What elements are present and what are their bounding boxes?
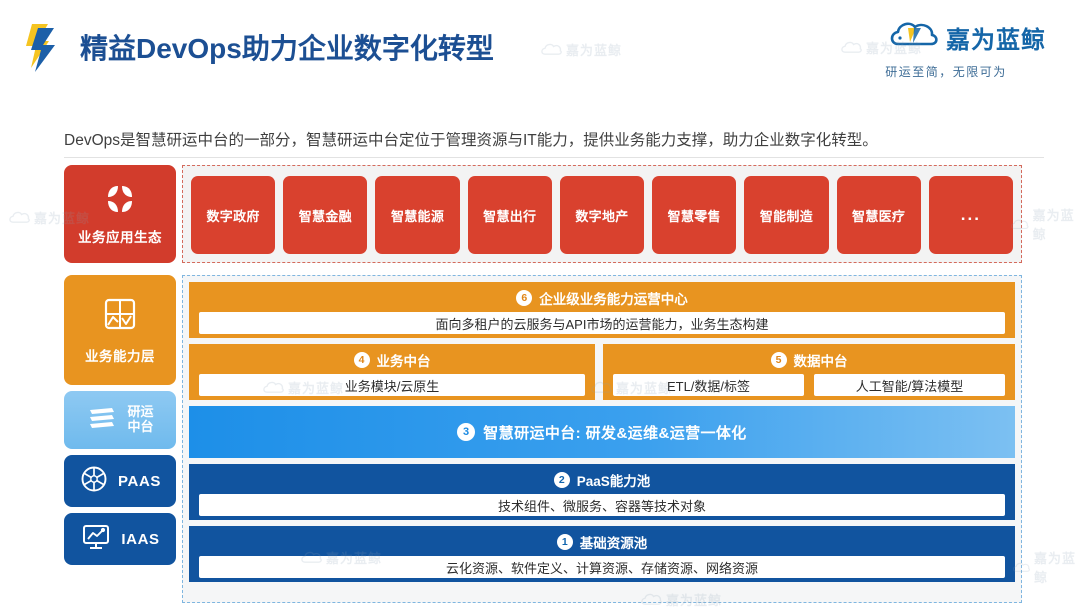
aperture-icon: [79, 464, 109, 499]
ecosystem-tile[interactable]: 数字政府: [191, 176, 275, 254]
step-badge: 3: [457, 423, 475, 441]
panel-title-text: 基础资源池: [580, 532, 648, 552]
page-title: 精益DevOps助力企业数字化转型: [80, 27, 494, 67]
brand-tagline: 研运至简，无限可为: [846, 63, 1046, 80]
lightning-bolt-logo: [18, 22, 64, 72]
ecosystem-tile[interactable]: 智慧能源: [375, 176, 459, 254]
sidebar-item-paas[interactable]: PAAS: [64, 455, 176, 507]
sidebar-item-label: 业务能力层: [85, 345, 155, 365]
ecosystem-tile-more[interactable]: ...: [929, 176, 1013, 254]
ecosystem-tile[interactable]: 智慧医疗: [837, 176, 921, 254]
ecosystem-tile-list: 数字政府 智慧金融 智慧能源 智慧出行 数字地产 智慧零售 智能制造 智慧医疗 …: [191, 176, 1013, 254]
sidebar-item-label: IAAS: [121, 531, 159, 548]
ecosystem-zone: 数字政府 智慧金融 智慧能源 智慧出行 数字地产 智慧零售 智能制造 智慧医疗 …: [182, 165, 1022, 263]
panel-field: 云化资源、软件定义、计算资源、存储资源、网络资源: [199, 556, 1005, 578]
step-badge: 5: [771, 352, 787, 368]
ecosystem-tile[interactable]: 智能制造: [744, 176, 828, 254]
sidebar-item-devops-platform[interactable]: 研运中台: [64, 391, 176, 449]
panel-field: ETL/数据/标签: [613, 374, 804, 396]
panel-field: 业务模块/云原生: [199, 374, 585, 396]
quadrant-chart-icon: [100, 296, 140, 339]
panel-title: 6 企业级业务能力运营中心: [199, 287, 1005, 309]
sidebar-item-business-capability[interactable]: 业务能力层: [64, 275, 176, 385]
panel-field: 面向多租户的云服务与API市场的运营能力，业务生态构建: [199, 312, 1005, 334]
ecosystem-tile[interactable]: 数字地产: [560, 176, 644, 254]
ecosystem-tile[interactable]: 智慧金融: [283, 176, 367, 254]
brand-logo: 嘉为蓝鲸 研运至简，无限可为: [846, 18, 1046, 80]
ecosystem-tile[interactable]: 智慧零售: [652, 176, 736, 254]
sidebar-item-iaas[interactable]: IAAS: [64, 513, 176, 565]
panel-title-text: 数据中台: [794, 350, 848, 370]
architecture-diagram: 业务应用生态 业务能力层 研: [0, 165, 1080, 605]
four-petal-cluster-icon: [101, 183, 139, 220]
brand-name: 嘉为蓝鲸: [946, 20, 1046, 55]
panel-title-text: 企业级业务能力运营中心: [539, 288, 688, 308]
panel-title-text: 智慧研运中台: 研发&运维&运营一体化: [483, 422, 746, 443]
cloud-whale-icon: [888, 18, 940, 57]
sidebar-item-business-ecosystem[interactable]: 业务应用生态: [64, 165, 176, 263]
panel-field: 人工智能/算法模型: [814, 374, 1005, 396]
panel-paas-pool[interactable]: 2 PaaS能力池 技术组件、微服务、容器等技术对象: [189, 464, 1015, 520]
step-badge: 4: [354, 352, 370, 368]
subtitle-text: DevOps是智慧研运中台的一部分，智慧研运中台定位于管理资源与IT能力，提供业…: [64, 128, 1044, 150]
panel-business-platform[interactable]: 4 业务中台 业务模块/云原生: [189, 344, 595, 400]
platform-zone: 6 企业级业务能力运营中心 面向多租户的云服务与API市场的运营能力，业务生态构…: [182, 275, 1022, 603]
page-header: 精益DevOps助力企业数字化转型 嘉为蓝鲸 研运至简，无限可为: [0, 0, 1080, 96]
step-badge: 2: [554, 472, 570, 488]
panel-title-text: PaaS能力池: [577, 470, 651, 490]
panel-title: 5 数据中台: [613, 349, 1005, 371]
panel-title-text: 业务中台: [377, 350, 431, 370]
panel-title: 2 PaaS能力池: [199, 469, 1005, 491]
step-badge: 6: [516, 290, 532, 306]
panel-title: 1 基础资源池: [199, 531, 1005, 553]
layers-icon: [86, 403, 118, 438]
step-badge: 1: [557, 534, 573, 550]
panel-data-platform[interactable]: 5 数据中台 ETL/数据/标签 人工智能/算法模型: [603, 344, 1015, 400]
panel-field: 技术组件、微服务、容器等技术对象: [199, 494, 1005, 516]
panel-operation-center[interactable]: 6 企业级业务能力运营中心 面向多租户的云服务与API市场的运营能力，业务生态构…: [189, 282, 1015, 338]
monitor-chart-icon: [80, 522, 112, 557]
panel-title: 4 业务中台: [199, 349, 585, 371]
sidebar-item-label: 研运中台: [127, 405, 153, 434]
sidebar-item-label: PAAS: [118, 473, 161, 490]
subtitle-divider: [64, 157, 1044, 158]
panel-iaas-pool[interactable]: 1 基础资源池 云化资源、软件定义、计算资源、存储资源、网络资源: [189, 526, 1015, 582]
sidebar-item-label: 业务应用生态: [78, 226, 162, 246]
ecosystem-tile[interactable]: 智慧出行: [468, 176, 552, 254]
panel-devops-platform[interactable]: 3 智慧研运中台: 研发&运维&运营一体化: [189, 406, 1015, 458]
panel-title: 3 智慧研运中台: 研发&运维&运营一体化: [189, 406, 1015, 458]
